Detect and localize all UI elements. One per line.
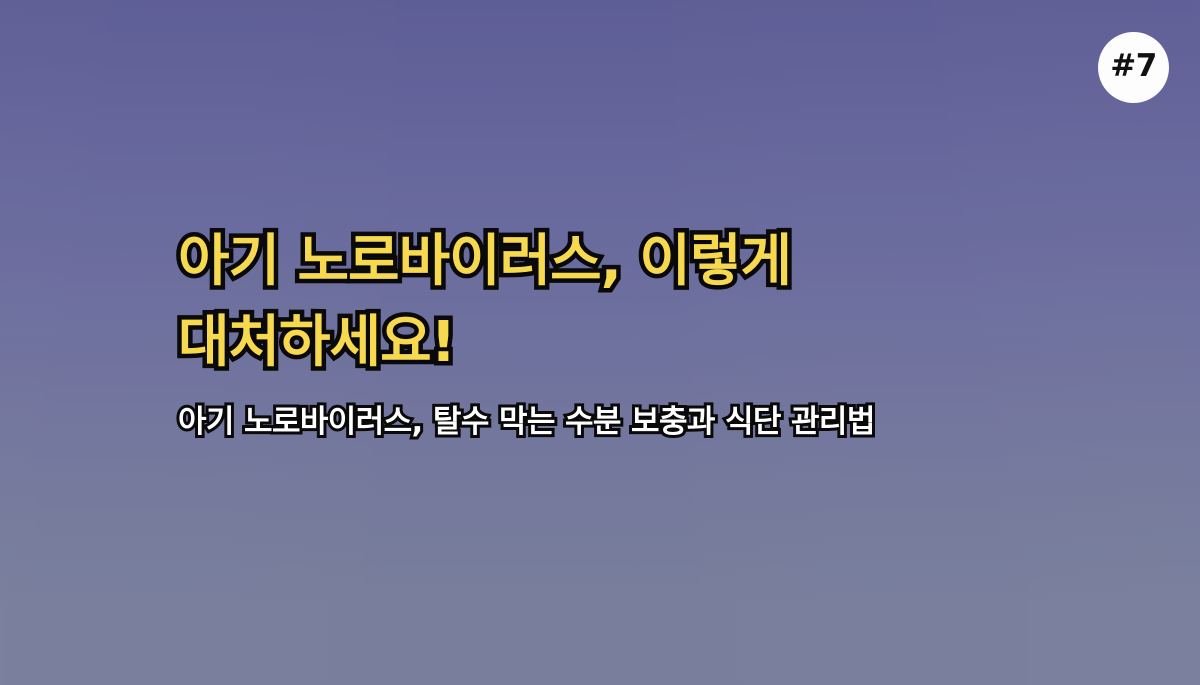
slide-number-badge: #7 xyxy=(1098,32,1169,103)
headline-title: 아기 노로바이러스, 이렇게 대처하세요! xyxy=(178,222,1158,383)
slide-card: #7 아기 노로바이러스, 이렇게 대처하세요! 아기 노로바이러스, 탈수 막… xyxy=(0,0,1200,685)
slide-number-label: #7 xyxy=(1110,51,1157,82)
headline-block: 아기 노로바이러스, 이렇게 대처하세요! 아기 노로바이러스, 탈수 막는 수… xyxy=(178,222,1158,442)
headline-subtitle: 아기 노로바이러스, 탈수 막는 수분 보충과 식단 관리법 xyxy=(178,403,1158,442)
